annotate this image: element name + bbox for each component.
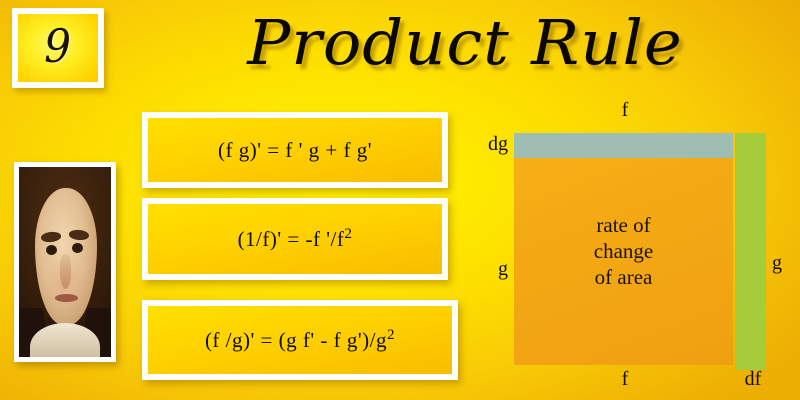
label-df: df bbox=[738, 368, 768, 391]
area-label-line3: of area bbox=[514, 264, 733, 290]
label-g-left: g bbox=[478, 258, 508, 281]
rect-dg-strip bbox=[514, 133, 733, 158]
area-label-line2: change bbox=[514, 238, 733, 264]
label-f-top: f bbox=[614, 99, 636, 122]
slide-canvas: 9 Product Rule (f g)' = f ' g + f g' bbox=[0, 0, 800, 400]
label-dg: dg bbox=[478, 133, 508, 156]
label-f-bottom: f bbox=[614, 368, 636, 391]
label-g-right: g bbox=[772, 252, 794, 275]
area-label-line1: rate of bbox=[514, 212, 733, 238]
area-diagram: rate of change of area f f dg g g df bbox=[0, 0, 800, 400]
area-label: rate of change of area bbox=[514, 212, 733, 290]
rect-df-strip bbox=[735, 133, 766, 370]
